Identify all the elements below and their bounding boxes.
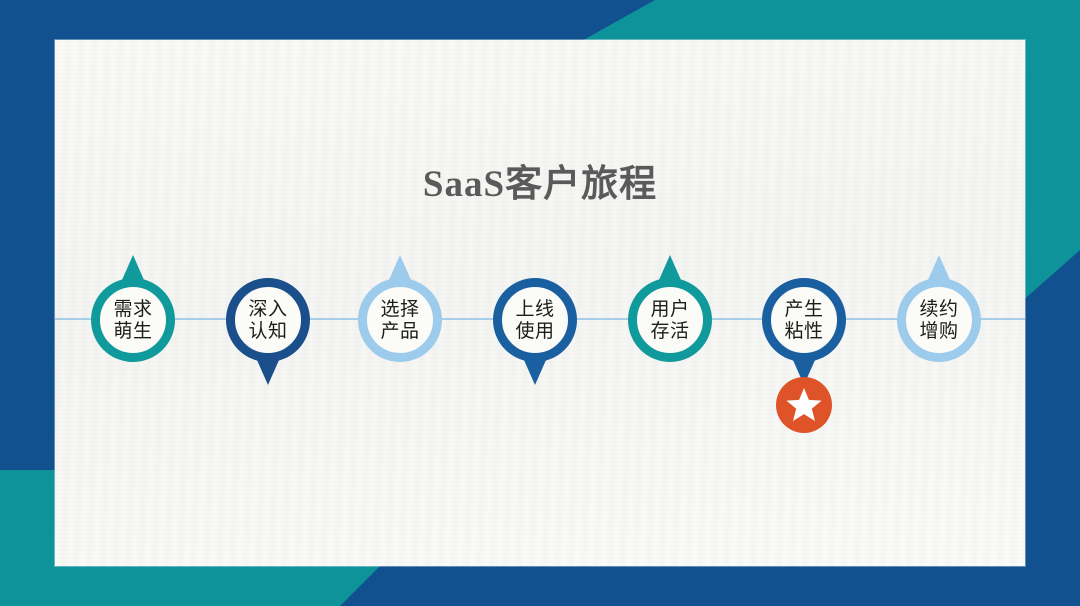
journey-stage-5-label: 用户 存活 <box>628 278 712 362</box>
page-title: SaaS客户旅程 <box>55 153 1025 207</box>
star-icon <box>785 386 823 424</box>
stage-label-line1: 用户 <box>650 298 689 320</box>
stage-label-line1: 选择 <box>380 298 419 320</box>
slide-canvas: SaaS客户旅程 需求 萌生 深入 认知 选择 产品 <box>0 0 1080 606</box>
stage-label-line1: 上线 <box>515 298 554 320</box>
stage-label-line1: 需求 <box>113 298 152 320</box>
stage-label-line2: 萌生 <box>113 320 152 342</box>
journey-stage-7[interactable]: 续约 增购 <box>897 278 981 362</box>
stage-label-line2: 粘性 <box>784 320 823 342</box>
journey-stage-3[interactable]: 选择 产品 <box>358 278 442 362</box>
journey-stage-6[interactable]: 产生 粘性 <box>762 278 846 362</box>
journey-stage-3-label: 选择 产品 <box>358 278 442 362</box>
journey-stage-7-label: 续约 增购 <box>897 278 981 362</box>
journey-stage-2[interactable]: 深入 认知 <box>226 278 310 362</box>
stage-label-line2: 认知 <box>248 320 287 342</box>
stage-label-line2: 使用 <box>515 320 554 342</box>
stage-label-line1: 深入 <box>248 298 287 320</box>
journey-stage-4[interactable]: 上线 使用 <box>493 278 577 362</box>
stage-label-line1: 续约 <box>919 298 958 320</box>
stage-label-line2: 产品 <box>380 320 419 342</box>
slide-card: SaaS客户旅程 需求 萌生 深入 认知 选择 产品 <box>55 40 1025 566</box>
stage-label-line1: 产生 <box>784 298 823 320</box>
journey-stage-4-label: 上线 使用 <box>493 278 577 362</box>
journey-stage-1-label: 需求 萌生 <box>91 278 175 362</box>
journey-stage-2-label: 深入 认知 <box>226 278 310 362</box>
journey-stage-1[interactable]: 需求 萌生 <box>91 278 175 362</box>
highlight-star-badge[interactable] <box>776 377 832 433</box>
journey-stage-6-label: 产生 粘性 <box>762 278 846 362</box>
journey-stage-5[interactable]: 用户 存活 <box>628 278 712 362</box>
stage-label-line2: 存活 <box>650 320 689 342</box>
stage-label-line2: 增购 <box>919 320 958 342</box>
